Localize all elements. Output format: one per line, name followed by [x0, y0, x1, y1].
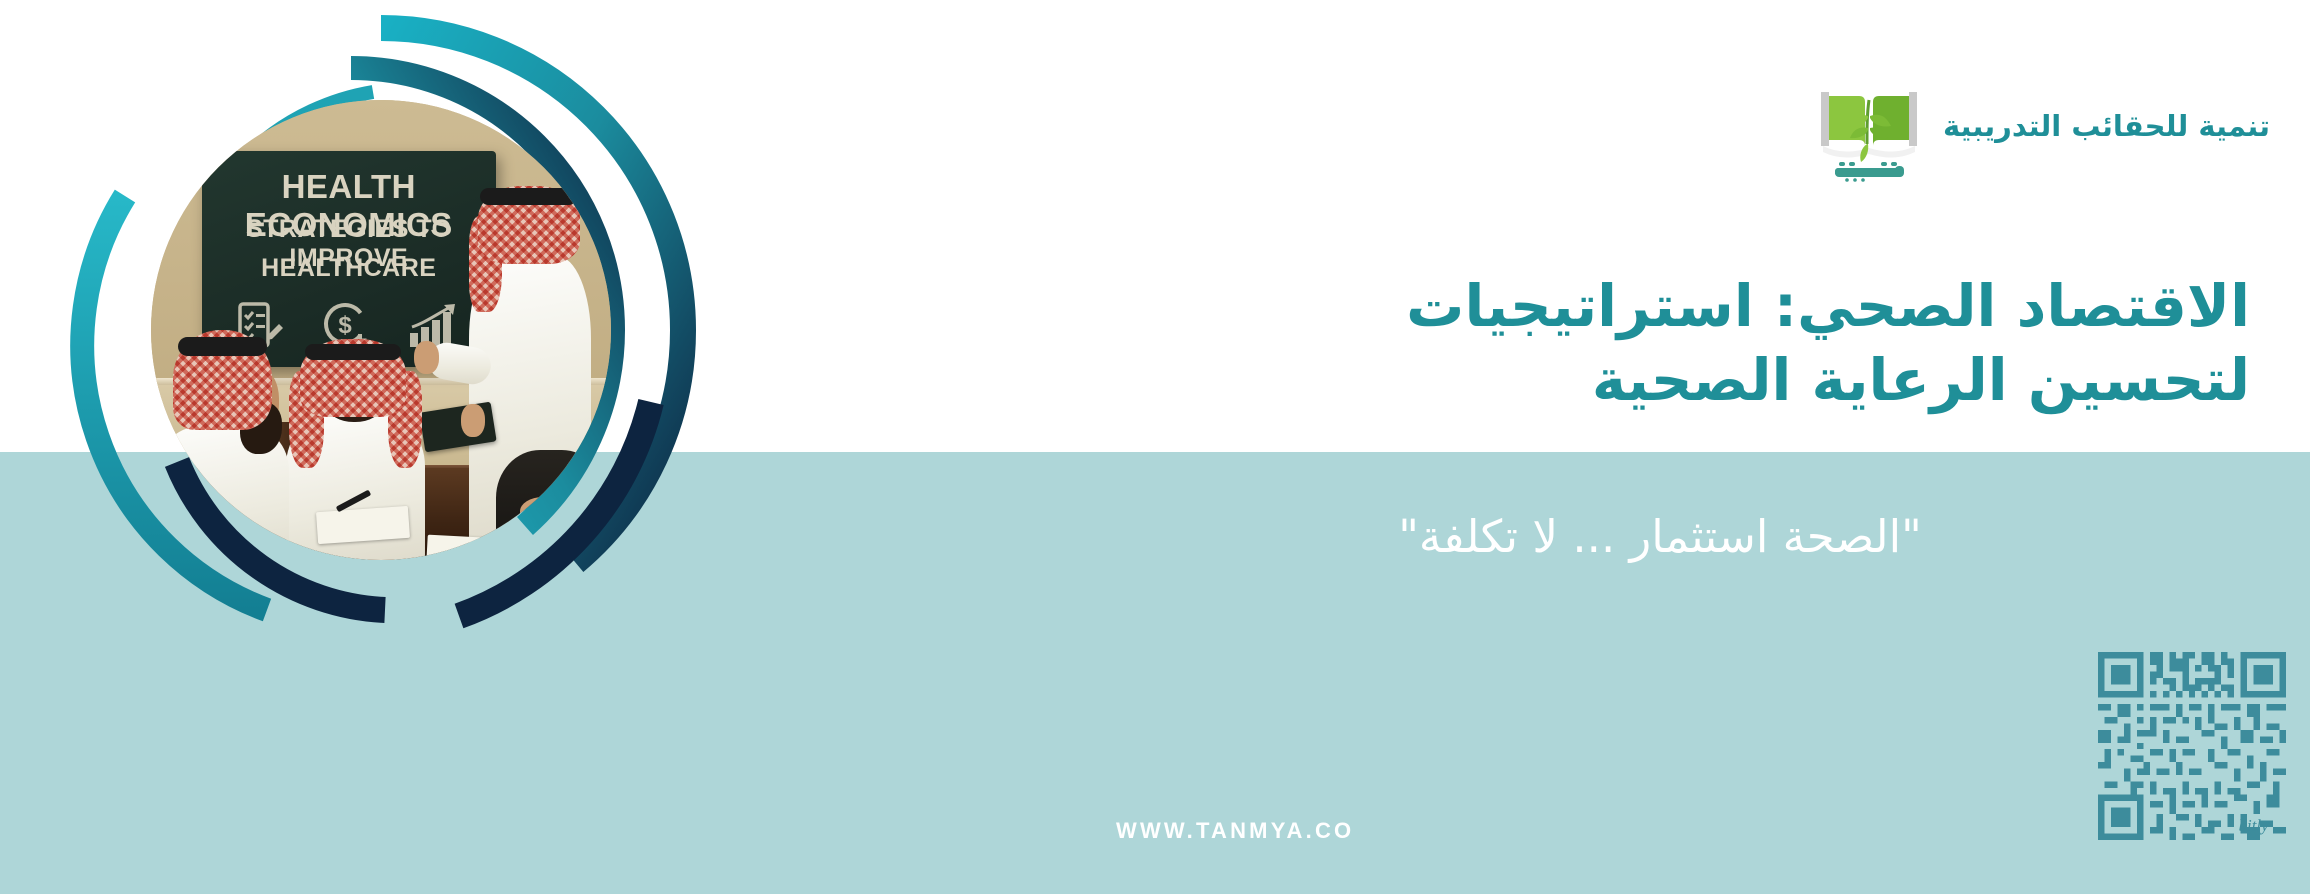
- hero-photo: HEALTH ECONOMICS STRATEGIES TO IMPROVE H…: [151, 100, 611, 560]
- board-title-line3: HEALTHCARE: [202, 254, 496, 283]
- svg-text:$: $: [338, 312, 352, 339]
- open-book-sprout-logo-icon: [1817, 70, 1921, 182]
- headline-line-1: الاقتصاد الصحي: استراتيجيات: [1406, 272, 2250, 340]
- qr-code-icon[interactable]: bitly: [2098, 652, 2286, 840]
- circular-hero-visual: HEALTH ECONOMICS STRATEGIES TO IMPROVE H…: [55, 10, 695, 650]
- website-url[interactable]: WWW.TANMYA.CO: [1116, 818, 1354, 844]
- banner-root: HEALTH ECONOMICS STRATEGIES TO IMPROVE H…: [0, 0, 2310, 894]
- tanmya-logo: [1817, 70, 1921, 182]
- tagline-quote: "الصحة استثمار ... لا تكلفة": [1070, 510, 2250, 563]
- brand-tagline: تنمية للحقائب التدريبية: [1943, 109, 2270, 143]
- brand-row: تنمية للحقائب التدريبية: [1817, 70, 2270, 182]
- person-seated-left: [160, 330, 284, 560]
- qr-code[interactable]: bitly: [2098, 652, 2286, 840]
- svg-text:bitly: bitly: [2239, 816, 2269, 835]
- headline-line-2: لتحسين الرعاية الصحية: [1070, 343, 2250, 417]
- page-title: الاقتصاد الصحي: استراتيجيات لتحسين الرعا…: [1070, 269, 2250, 417]
